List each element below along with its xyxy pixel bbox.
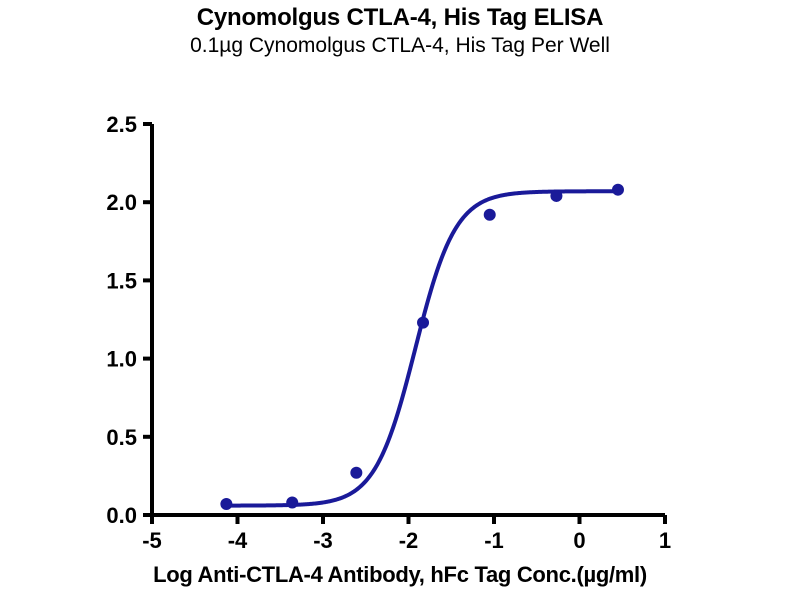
x-axis-tick-label: -5	[142, 528, 162, 553]
data-point-marker	[418, 317, 429, 328]
x-axis-tick-label: 0	[573, 528, 585, 553]
data-point-marker	[221, 499, 232, 510]
x-axis-tick-label: 1	[659, 528, 671, 553]
y-axis-tick-label: 2.0	[106, 190, 137, 215]
elisa-chart-figure: Cynomolgus CTLA-4, His Tag ELISA 0.1µg C…	[0, 0, 800, 600]
data-series-curve	[226, 191, 618, 505]
x-axis-tick-label: -2	[399, 528, 419, 553]
y-axis-tick-label: 2.5	[106, 112, 137, 137]
data-point-marker	[612, 184, 623, 195]
y-axis-tick-label: 1.0	[106, 347, 137, 372]
plot-area: 0.00.51.01.52.02.5-5-4-3-2-101	[0, 0, 800, 600]
x-axis-tick-label: -4	[228, 528, 248, 553]
x-axis-tick-label: -1	[484, 528, 504, 553]
data-point-marker	[351, 467, 362, 478]
y-axis-tick-label: 1.5	[106, 268, 137, 293]
y-axis-tick-label: 0.5	[106, 425, 137, 450]
data-point-marker	[287, 497, 298, 508]
y-axis-tick-label: 0.0	[106, 503, 137, 528]
data-point-marker	[484, 209, 495, 220]
x-axis-tick-label: -3	[313, 528, 333, 553]
x-axis-label: Log Anti-CTLA-4 Antibody, hFc Tag Conc.(…	[0, 562, 800, 588]
data-point-marker	[551, 190, 562, 201]
